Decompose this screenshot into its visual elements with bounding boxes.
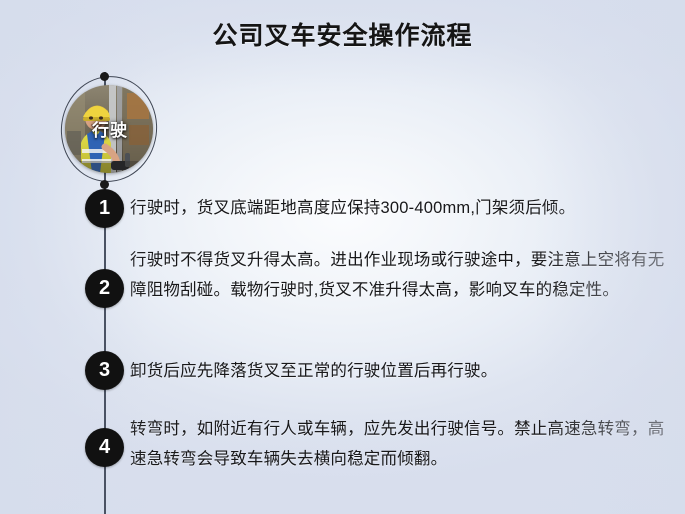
- spine-dot-bottom-icon: [100, 180, 109, 189]
- photo-node: 行驶: [58, 74, 162, 186]
- photo-node-label: 行驶: [58, 116, 162, 141]
- spine-dot-top-icon: [100, 72, 109, 81]
- slide-canvas: 公司叉车安全操作流程: [0, 0, 685, 514]
- page-title: 公司叉车安全操作流程: [0, 16, 685, 52]
- step-text-2: 行驶时不得货叉升得太高。进出作业现场或行驶途中，要注意上空将有无障阻物刮碰。载物…: [130, 245, 673, 305]
- step-number-badge-2: 2: [85, 269, 124, 308]
- step-number-badge-3: 3: [85, 351, 124, 390]
- step-number-badge-4: 4: [85, 428, 124, 467]
- step-number-badge-1: 1: [85, 189, 124, 228]
- step-text-1: 行驶时，货叉底端距地高度应保持300-400mm,门架须后倾。: [130, 193, 673, 223]
- step-text-3: 卸货后应先降落货叉至正常的行驶位置后再行驶。: [130, 356, 673, 386]
- step-text-4: 转弯时，如附近有行人或车辆，应先发出行驶信号。禁止高速急转弯，高速急转弯会导致车…: [130, 414, 673, 474]
